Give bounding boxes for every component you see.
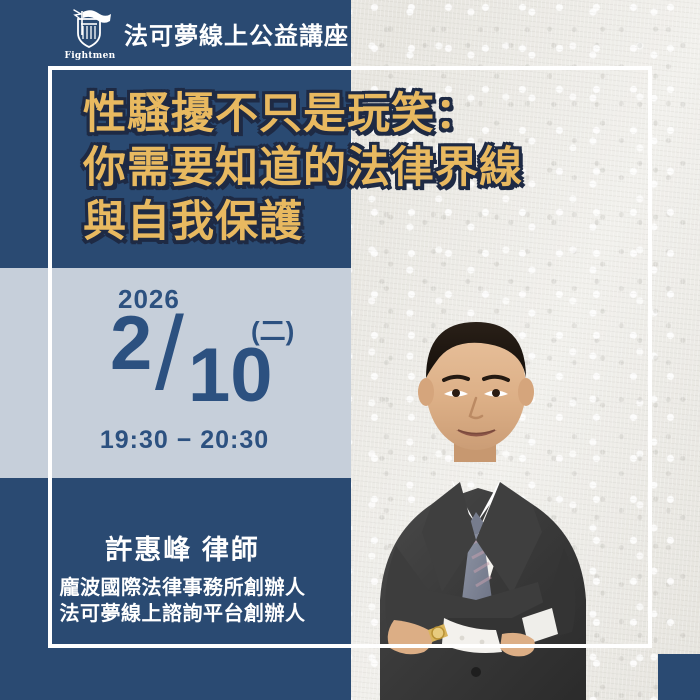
shield-flag-logo-icon: Fightmen — [60, 5, 120, 61]
event-date-block: 2026 2 / 10 (二) 19:30 − 20:30 — [0, 268, 351, 478]
corner-accent-block — [658, 654, 700, 700]
speaker-role-line-2: 法可夢線上諮詢平台創辦人 — [14, 601, 351, 627]
date-month: 2 — [110, 306, 152, 382]
brand-header: Fightmen 法可夢線上公益講座 — [0, 0, 351, 66]
speaker-block: 許惠峰 律師 龐波國際法律事務所創辦人 法可夢線上諮詢平台創辦人 — [0, 528, 351, 627]
date-separator: / — [155, 302, 184, 406]
speaker-portrait — [336, 300, 676, 700]
page-title: 性騷擾不只是玩笑： 你需要知道的法律界線 與自我保護 — [83, 88, 643, 249]
event-time: 19:30 − 20:30 — [0, 426, 351, 455]
speaker-name: 許惠峰 律師 — [14, 528, 351, 567]
speaker-role-line-1: 龐波國際法律事務所創辦人 — [14, 575, 351, 601]
logo-wordmark: Fightmen — [60, 51, 120, 61]
header-title: 法可夢線上公益講座 — [124, 16, 349, 51]
poster-canvas: Fightmen 法可夢線上公益講座 性騷擾不只是玩笑： 你需要知道的法律界線 … — [0, 0, 700, 700]
date-day: 10 — [188, 338, 273, 414]
date-month-day: 2 / 10 (二) — [110, 306, 320, 416]
date-weekday: (二) — [251, 318, 294, 344]
